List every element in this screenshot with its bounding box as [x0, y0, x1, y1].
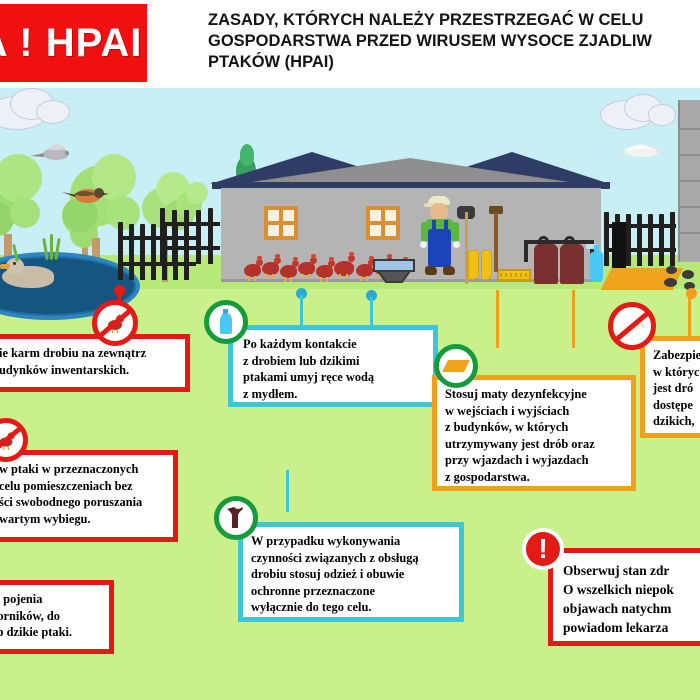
perched-bird-icon: [58, 182, 116, 208]
info-line: jest dró: [653, 380, 700, 397]
barn-window-icon: [366, 206, 400, 240]
info-line: objawach natychm: [563, 599, 700, 618]
grass-icon: [50, 234, 53, 260]
apron-icon: [214, 496, 258, 540]
info-line: biorników, do: [0, 608, 107, 625]
cloud-icon: [36, 100, 70, 124]
hpai-warning-badge: GA ! HPAI: [0, 4, 147, 82]
rubber-boots-icon: [468, 250, 494, 282]
info-line: w któryc: [653, 364, 700, 381]
info-box-no-water-from-reservoirs[interactable]: do pojenia biorników, do tęp dzikie ptak…: [0, 580, 114, 654]
farmer-boot: [425, 266, 437, 275]
connector-line-cyan: [300, 295, 303, 329]
exclamation-icon: !: [522, 528, 564, 570]
apron-rail-leg: [524, 244, 528, 262]
info-box-protective-clothing[interactable]: W przypadku wykonywania czynności związa…: [238, 522, 464, 622]
info-line: celu pomieszczeniach bez: [0, 478, 169, 495]
flying-bird-icon: [612, 137, 674, 165]
cloud-icon: [648, 104, 676, 126]
info-line: utrzymywany jest drób oraz: [445, 436, 627, 453]
no-wild-bird-icon: [608, 302, 656, 350]
info-box-secure-buildings[interactable]: Zabezpie w któryc jest dró dostępe dziki…: [640, 336, 700, 438]
silo-band: [678, 154, 700, 156]
page-title: ZASADY, KTÓRYCH NALEŻY PRZESTRZEGAĆ W CE…: [208, 10, 700, 73]
info-line: O wszelkich niepok: [563, 580, 700, 599]
silo-band: [678, 128, 700, 130]
gravel-icon: [664, 278, 677, 287]
title-line-2: GOSPODARSTWA PRZED WIRUSEM WYSOCE ZJADLI…: [208, 31, 700, 52]
connector-line-cyan: [286, 470, 289, 512]
disinfection-mat-icon: [434, 344, 478, 388]
brush-handle: [494, 212, 498, 272]
no-chicken-feeding-icon: [92, 300, 138, 346]
info-line: w wejściach i wyjściach: [445, 403, 627, 420]
title-line-3: PTAKÓW (HPAI): [208, 52, 700, 73]
info-box-observe-health[interactable]: Obserwuj stan zdr O wszelkich niepok obj…: [548, 548, 700, 646]
info-line: z budynków, w których: [445, 419, 627, 436]
protective-apron-icon: [534, 244, 558, 284]
barn-window-icon: [264, 206, 298, 240]
info-line: ochronne przeznaczone: [251, 583, 455, 600]
info-line: Zabezpie: [653, 347, 700, 364]
info-line: tęp dzikie ptaki.: [0, 624, 107, 641]
info-line: z drobiem lub dzikimi: [243, 353, 427, 370]
info-line: Obserwuj stan zdr: [563, 561, 700, 580]
silo-band: [678, 180, 700, 182]
info-line: powiadom lekarza: [563, 618, 700, 637]
info-line: czynności związanych z obsługą: [251, 550, 455, 567]
info-line: z gospodarstwa.: [445, 469, 627, 486]
gravel-icon: [666, 266, 677, 274]
info-line: ści swobodnego poruszania: [0, 494, 169, 511]
info-line: przy wjazdach i wyjazdach: [445, 452, 627, 469]
info-box-keep-birds-indoors[interactable]: w ptaki w przeznaczonych celu pomieszcze…: [0, 450, 178, 542]
mat-texture: [500, 273, 528, 277]
gravel-icon: [682, 270, 694, 279]
duck-eye: [13, 262, 16, 265]
farmer-with-broom: [420, 196, 460, 282]
soap-bottle-icon: [204, 300, 248, 344]
info-line: udynków inwentarskich.: [0, 362, 179, 379]
info-line: dostępe: [653, 397, 700, 414]
info-line: z mydłem.: [243, 386, 427, 403]
connector-line-orange: [572, 290, 575, 348]
apron-rail: [524, 240, 594, 244]
info-line: W przypadku wykonywania: [251, 533, 455, 550]
farmer-boot: [443, 266, 455, 275]
info-line: Stosuj maty dezynfekcyjne: [445, 386, 627, 403]
info-line: wyłącznie do tego celu.: [251, 599, 455, 616]
silo-band: [678, 206, 700, 208]
info-line: do pojenia: [0, 591, 107, 608]
feed-tray-icon: [372, 258, 416, 284]
farmer-glove: [420, 241, 427, 248]
info-box-wash-hands[interactable]: Po każdym kontakcie z drobiem lub dzikim…: [228, 325, 438, 407]
mat-shape: [442, 360, 470, 372]
info-line: Po każdym kontakcie: [243, 336, 427, 353]
silo-band: [678, 232, 700, 234]
title-line-1: ZASADY, KTÓRYCH NALEŻY PRZESTRZEGAĆ W CE…: [208, 10, 700, 31]
info-line: w ptaki w przeznaczonych: [0, 461, 169, 478]
info-box-no-outdoor-feeding[interactable]: ie karm drobiu na zewnątrz udynków inwen…: [0, 334, 190, 392]
spray-bottle-icon: [590, 252, 603, 282]
protective-apron-icon: [560, 244, 584, 284]
info-line: dzikich,: [653, 413, 700, 430]
info-line: ie karm drobiu na zewnątrz: [0, 345, 179, 362]
exclamation-glyph: !: [538, 535, 547, 563]
farmer-arm: [421, 222, 427, 242]
info-line: drobiu stosuj odzież i obuwie: [251, 566, 455, 583]
info-line: ptakami umyj ręce wodą: [243, 369, 427, 386]
info-line: wartym wybiegu.: [0, 511, 169, 528]
info-box-disinfection-mats[interactable]: Stosuj maty dezynfekcyjne w wejściach i …: [432, 375, 636, 491]
farmer-arm: [453, 222, 459, 242]
hpai-badge-label: GA ! HPAI: [0, 21, 142, 66]
duck-beak: [0, 264, 10, 269]
connector-line-orange: [496, 290, 499, 348]
farmer-glove: [453, 241, 460, 248]
farmer-overalls: [428, 229, 451, 267]
header-bar: GA ! HPAI ZASADY, KTÓRYCH NALEŻY PRZESTR…: [0, 0, 700, 88]
